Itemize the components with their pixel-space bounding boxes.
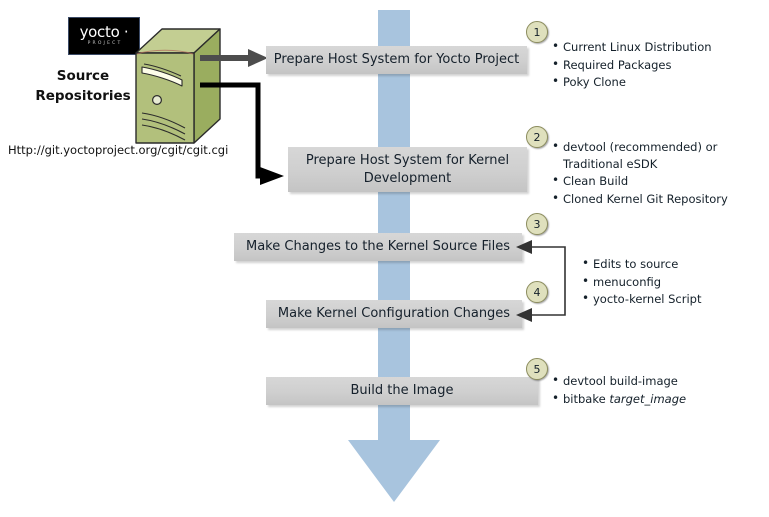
bullet-list-step-1: Current Linux Distribution Required Pack… <box>552 39 712 92</box>
list-item: Required Packages <box>552 57 712 74</box>
list-item: Cloned Kernel Git Repository <box>552 191 728 208</box>
list-item: yocto-kernel Script <box>582 291 702 308</box>
process-box-step-1[interactable]: Prepare Host System for Yocto Project <box>266 46 527 74</box>
process-box-step-4-label: Make Kernel Configuration Changes <box>278 305 510 323</box>
process-box-step-3[interactable]: Make Changes to the Kernel Source Files <box>234 233 522 261</box>
bullet-list-steps-3-and-4: Edits to source menuconfig yocto-kernel … <box>582 256 702 309</box>
step-number-badge-4: 4 <box>526 281 548 303</box>
source-label-line-2: Repositories <box>30 86 136 106</box>
process-box-step-2[interactable]: Prepare Host System for Kernel Developme… <box>288 147 527 192</box>
list-item: Edits to source <box>582 256 702 273</box>
process-box-step-4[interactable]: Make Kernel Configuration Changes <box>266 300 522 328</box>
bullet-list-step-2: devtool (recommended) or Traditional eSD… <box>552 139 728 209</box>
list-item: Clean Build <box>552 173 728 190</box>
step-number-badge-1: 1 <box>526 21 548 43</box>
step-number-badge-2: 2 <box>526 126 548 148</box>
step-number-badge-3: 3 <box>526 213 548 235</box>
yocto-project-logo: yocto · PROJECT <box>68 17 140 55</box>
process-box-step-3-label: Make Changes to the Kernel Source Files <box>246 238 510 256</box>
process-box-step-2-label: Prepare Host System for Kernel Developme… <box>294 152 521 187</box>
server-tower-icon <box>132 27 224 145</box>
step-number-badge-5: 5 <box>526 358 548 380</box>
list-item: menuconfig <box>582 274 702 291</box>
step-3-4-bracket-connector <box>516 236 576 326</box>
logo-wordmark: yocto · <box>80 25 129 40</box>
list-item: devtool (recommended) or Traditional eSD… <box>552 139 728 172</box>
diagram-canvas: yocto · PROJECT Source Repositories Http… <box>0 0 769 517</box>
list-item: Poky Clone <box>552 74 712 91</box>
process-box-step-1-label: Prepare Host System for Yocto Project <box>274 51 519 69</box>
bitbake-target-image-variable: target_image <box>609 392 686 406</box>
source-repositories-label: Source Repositories <box>30 66 136 107</box>
process-box-step-5[interactable]: Build the Image <box>266 377 538 405</box>
bitbake-command-prefix: bitbake <box>563 392 609 406</box>
source-repository-url: Http://git.yoctoproject.org/cgit/cgit.cg… <box>8 143 228 157</box>
list-item: devtool build-image <box>552 373 686 390</box>
bullet-list-step-5: devtool build-image bitbake target_image <box>552 373 686 408</box>
process-box-step-5-label: Build the Image <box>351 382 454 400</box>
source-label-line-1: Source <box>30 66 136 86</box>
logo-subtitle: PROJECT <box>86 42 123 47</box>
list-item: Current Linux Distribution <box>552 39 712 56</box>
list-item: bitbake target_image <box>552 391 686 408</box>
